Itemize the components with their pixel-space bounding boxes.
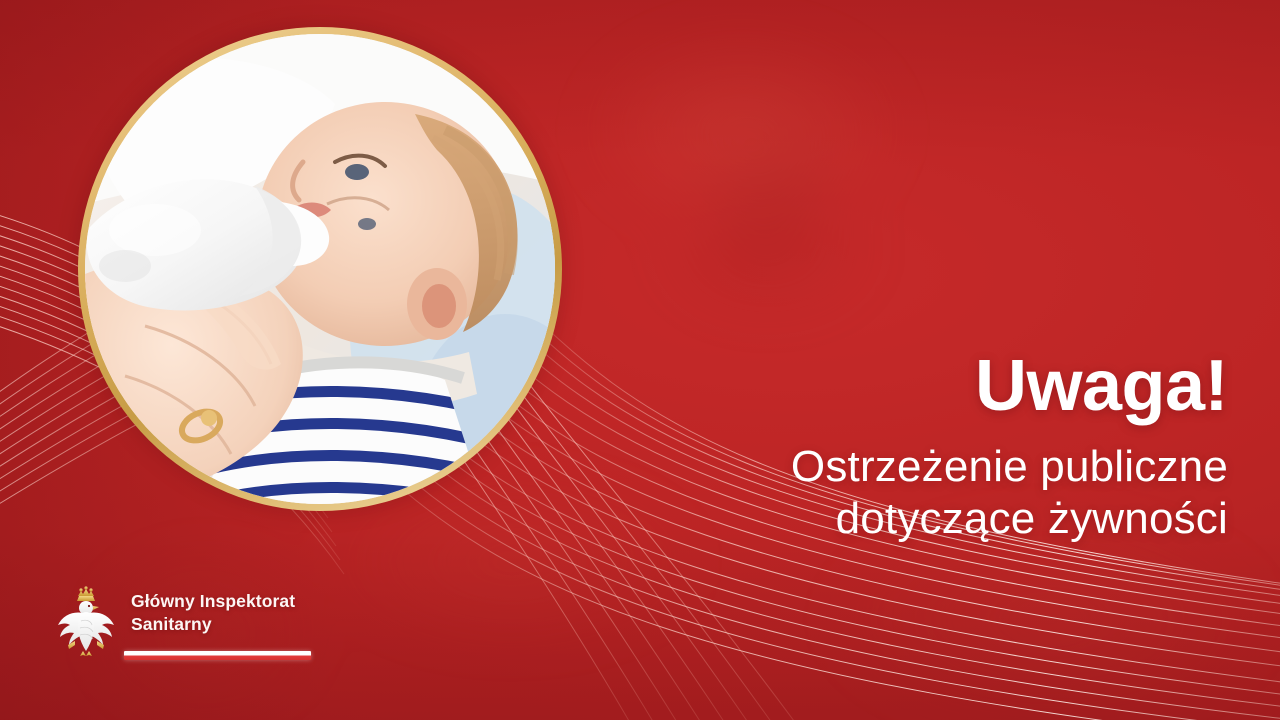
headline-block: Uwaga! Ostrzeżenie publiczne dotyczące ż… bbox=[588, 352, 1228, 545]
page-subtitle-line-2: dotyczące żywności bbox=[588, 493, 1228, 545]
page-subtitle: Ostrzeżenie publiczne dotyczące żywności bbox=[588, 441, 1228, 545]
institution-logo: Główny Inspektorat Sanitarny bbox=[55, 585, 295, 657]
warning-banner: Uwaga! Ostrzeżenie publiczne dotyczące ż… bbox=[0, 0, 1280, 720]
baby-bottle-feeding-photo bbox=[85, 34, 555, 504]
institution-name-line-1: Główny Inspektorat bbox=[131, 590, 295, 613]
page-subtitle-line-1: Ostrzeżenie publiczne bbox=[588, 441, 1228, 493]
page-title: Uwaga! bbox=[588, 352, 1228, 421]
polish-eagle-emblem-icon bbox=[55, 585, 117, 657]
institution-name: Główny Inspektorat Sanitarny bbox=[131, 585, 295, 637]
institution-name-line-2: Sanitarny bbox=[131, 613, 295, 636]
polish-flag-bar bbox=[124, 651, 311, 660]
photo-gold-frame bbox=[78, 27, 562, 511]
